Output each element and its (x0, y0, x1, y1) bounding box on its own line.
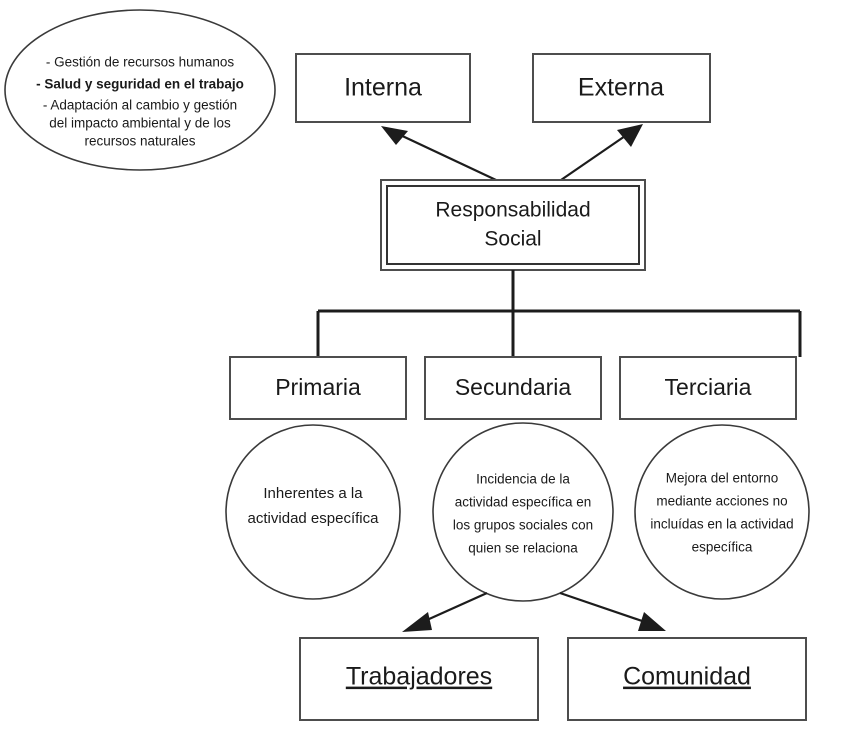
node-externa[interactable]: Externa (533, 54, 710, 122)
note-line-2: - Salud y seguridad en el trabajo (36, 77, 244, 92)
node-responsabilidad-social[interactable]: Responsabilidad Social (381, 180, 645, 270)
note-ellipse-group: - Gestión de recursos humanos - Salud y … (5, 10, 275, 170)
tree-connector (318, 270, 800, 357)
responsabilidad-social-label-line2: Social (484, 228, 541, 251)
arrow-secundaria-to-comunidad (560, 593, 666, 631)
node-secundaria[interactable]: Secundaria (425, 357, 601, 419)
node-interna[interactable]: Interna (296, 54, 470, 122)
desc-terciaria-line-1: Mejora del entorno (666, 471, 779, 486)
arrow-rs-to-externa (561, 124, 643, 180)
desc-primaria-line-1: Inherentes a la (263, 485, 363, 502)
desc-terciaria-circle (635, 425, 809, 599)
trabajadores-label: Trabajadores (346, 663, 492, 691)
interna-label: Interna (344, 74, 422, 102)
secundaria-label: Secundaria (455, 374, 572, 400)
node-primaria[interactable]: Primaria (230, 357, 406, 419)
circle-desc-secundaria: Incidencia de la actividad específica en… (433, 423, 613, 601)
node-comunidad[interactable]: Comunidad (568, 638, 806, 720)
desc-secundaria-line-3: los grupos sociales con (453, 518, 593, 533)
note-line-4: del impacto ambiental y de los (49, 116, 231, 131)
responsabilidad-social-outer-box[interactable] (381, 180, 645, 270)
desc-secundaria-line-2: actividad específica en (455, 495, 592, 510)
externa-label: Externa (578, 74, 664, 102)
note-line-3: - Adaptación al cambio y gestión (43, 98, 237, 113)
note-line-5: recursos naturales (84, 134, 195, 149)
desc-primaria-line-2: actividad específica (248, 510, 380, 527)
desc-terciaria-line-4: específica (692, 540, 753, 555)
primaria-label: Primaria (275, 374, 361, 400)
responsabilidad-social-diagram: - Gestión de recursos humanos - Salud y … (0, 0, 841, 732)
responsabilidad-social-label-line1: Responsabilidad (435, 199, 590, 222)
desc-secundaria-circle (433, 423, 613, 601)
terciaria-label: Terciaria (665, 374, 752, 400)
circle-desc-terciaria: Mejora del entorno mediante acciones no … (635, 425, 809, 599)
desc-secundaria-line-1: Incidencia de la (476, 472, 570, 487)
comunidad-label: Comunidad (623, 663, 751, 691)
desc-terciaria-line-2: mediante acciones no (656, 494, 787, 509)
circle-desc-primaria: Inherentes a la actividad específica (226, 425, 400, 599)
arrow-secundaria-to-trabajadores (402, 593, 487, 632)
node-trabajadores[interactable]: Trabajadores (300, 638, 538, 720)
note-line-1: - Gestión de recursos humanos (46, 55, 235, 70)
diagram-canvas: - Gestión de recursos humanos - Salud y … (0, 0, 841, 732)
desc-secundaria-line-4: quien se relaciona (468, 541, 578, 556)
arrow-rs-to-interna (381, 126, 496, 180)
desc-terciaria-line-3: incluídas en la actividad (650, 517, 793, 532)
node-terciaria[interactable]: Terciaria (620, 357, 796, 419)
